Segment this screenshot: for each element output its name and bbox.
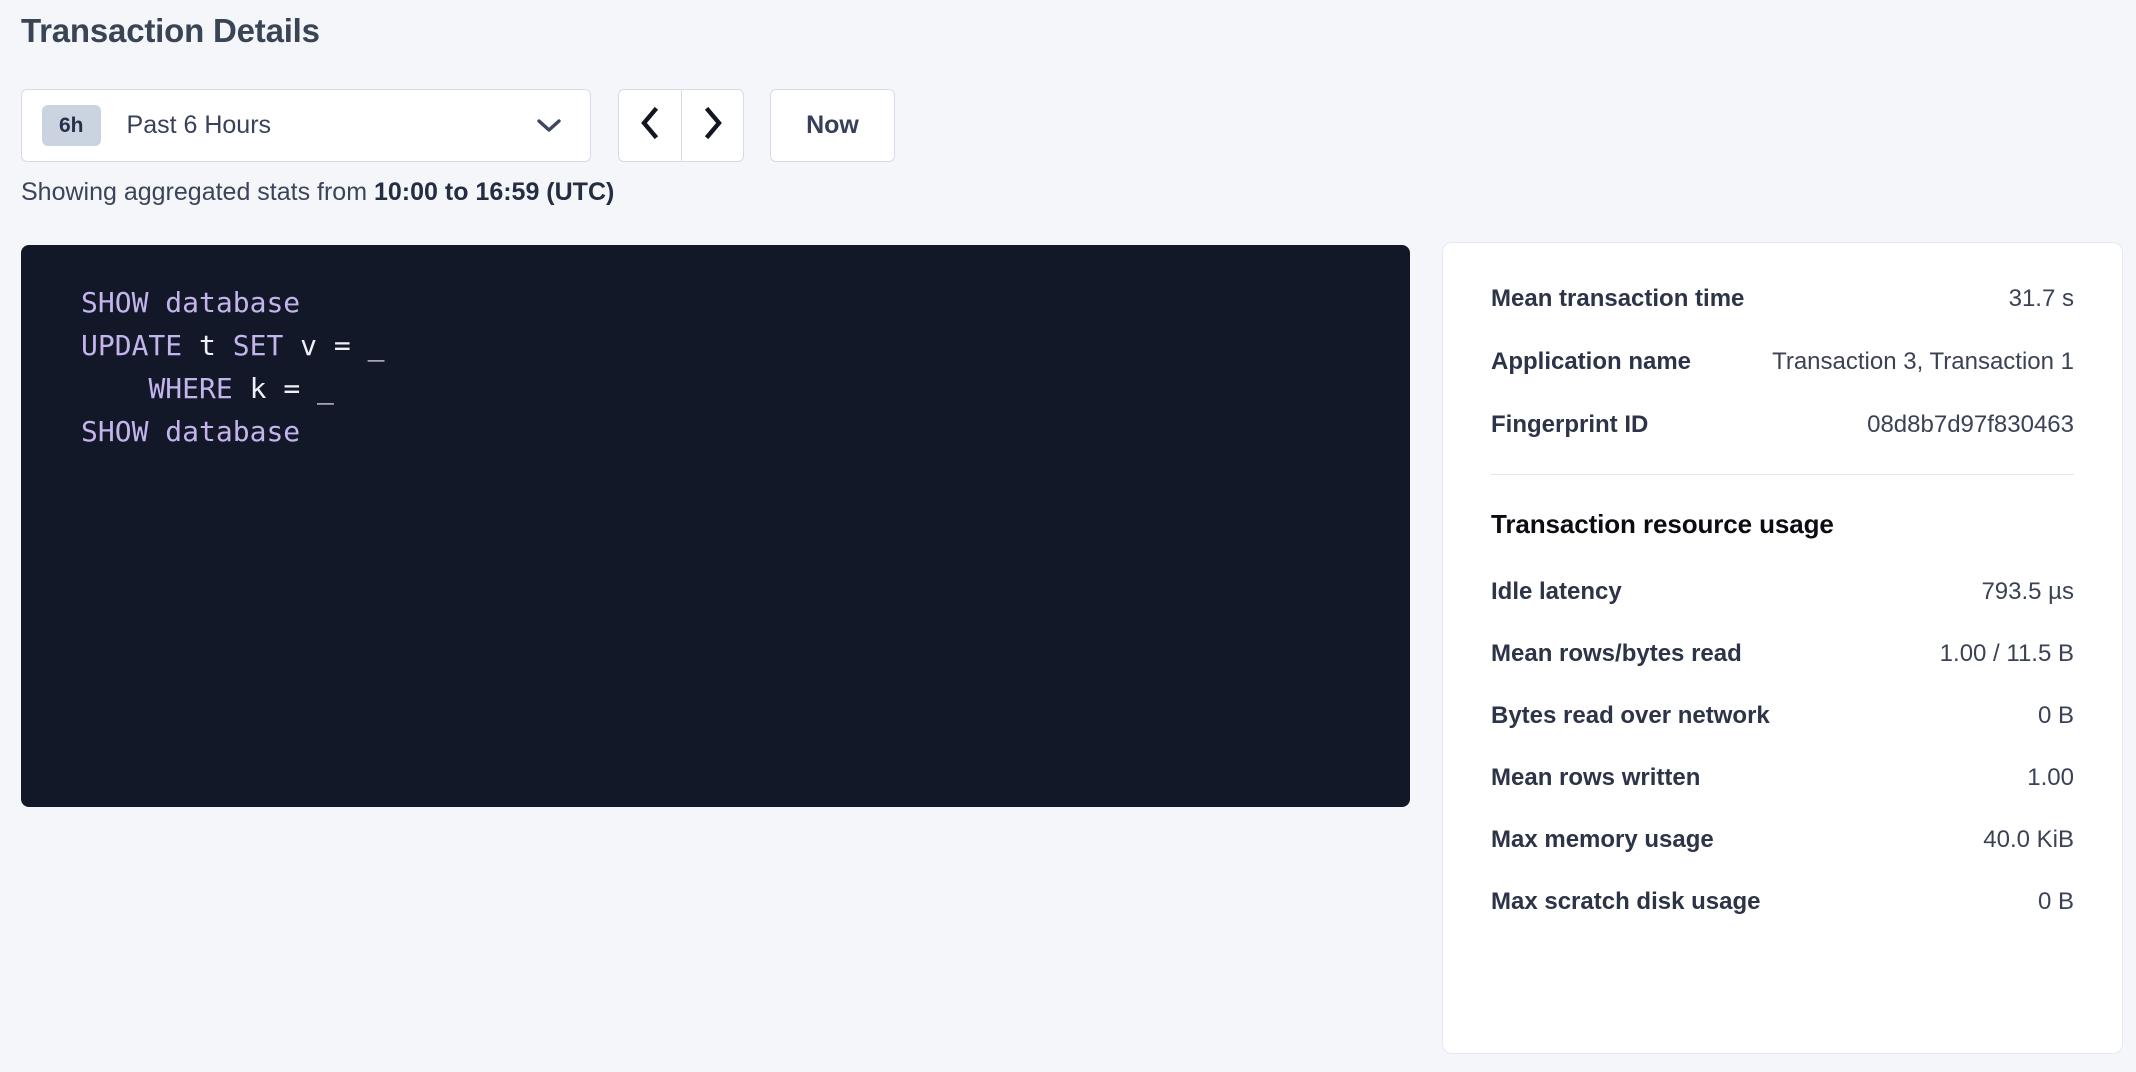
stat-row: Application nameTransaction 3, Transacti… [1491,348,2074,376]
time-controls: 6h Past 6 Hours Now [21,89,895,162]
card-divider [1491,474,2074,475]
stat-row: Max memory usage40.0 KiB [1491,826,2074,854]
showing-range-value: 10:00 to 16:59 (UTC) [374,178,614,206]
stat-value: Transaction 3, Transaction 1 [1756,348,2074,376]
showing-range-prefix: Showing aggregated stats from [21,178,374,206]
chevron-left-icon [637,106,663,145]
sql-token: t [199,329,216,362]
sql-token: k [250,372,267,405]
stat-label: Mean transaction time [1491,285,1744,313]
previous-period-button[interactable] [618,89,681,162]
sql-token [216,329,233,362]
stat-value: 1.00 [2011,764,2074,792]
sql-keyword: SET [233,329,284,362]
sql-token [317,329,334,362]
stat-row: Mean rows written1.00 [1491,764,2074,792]
time-range-badge: 6h [42,105,101,146]
stat-value: 08d8b7d97f830463 [1851,411,2074,439]
sql-token [148,286,165,319]
sql-token [283,329,300,362]
sql-keyword: SHOW [81,286,148,319]
showing-range-text: Showing aggregated stats from 10:00 to 1… [21,178,614,207]
sql-token [148,415,165,448]
stat-label: Mean rows written [1491,764,1700,792]
next-period-button[interactable] [681,89,744,162]
stat-row: Bytes read over network0 B [1491,702,2074,730]
stat-row: Mean transaction time31.7 s [1491,285,2074,313]
time-range-select[interactable]: 6h Past 6 Hours [21,89,591,162]
sql-token: = [283,372,300,405]
stat-value: 40.0 KiB [1967,826,2074,854]
resource-stats-list: Idle latency793.5 µsMean rows/bytes read… [1491,578,2074,916]
stat-row: Max scratch disk usage0 B [1491,888,2074,916]
sql-code-text: SHOW database UPDATE t SET v = _ WHERE k… [81,281,1410,453]
resource-usage-heading: Transaction resource usage [1491,509,2074,540]
sql-token [266,372,283,405]
chevron-right-icon [700,106,726,145]
summary-stats-list: Mean transaction time31.7 sApplication n… [1491,285,2074,439]
sql-keyword: SHOW [81,415,148,448]
time-range-label: Past 6 Hours [127,111,272,140]
sql-token [182,329,199,362]
time-nav-group [618,89,744,162]
sql-token [300,372,317,405]
stat-label: Mean rows/bytes read [1491,640,1742,668]
sql-token [351,329,368,362]
stat-value: 0 B [2022,888,2074,916]
stat-label: Fingerprint ID [1491,411,1648,439]
stat-label: Idle latency [1491,578,1622,606]
stat-label: Application name [1491,348,1691,376]
stat-value: 793.5 µs [1965,578,2074,606]
sql-keyword: database [165,286,300,319]
sql-code-panel[interactable]: SHOW database UPDATE t SET v = _ WHERE k… [21,245,1410,807]
sql-token [233,372,250,405]
sql-keyword: UPDATE [81,329,182,362]
transaction-stats-card: Mean transaction time31.7 sApplication n… [1442,242,2123,1054]
sql-token [81,372,148,405]
stat-row: Mean rows/bytes read1.00 / 11.5 B [1491,640,2074,668]
stat-label: Max memory usage [1491,826,1714,854]
transaction-details-page: Transaction Details 6h Past 6 Hours Now [0,0,2136,1072]
stat-row: Idle latency793.5 µs [1491,578,2074,606]
page-title: Transaction Details [21,12,320,50]
sql-keyword: WHERE [148,372,232,405]
sql-keyword: database [165,415,300,448]
stat-value: 0 B [2022,702,2074,730]
stat-label: Max scratch disk usage [1491,888,1760,916]
stat-label: Bytes read over network [1491,702,1770,730]
now-button[interactable]: Now [770,89,895,162]
sql-token: v [300,329,317,362]
stat-value: 31.7 s [1993,285,2074,313]
sql-token: _ [317,372,334,405]
sql-token: _ [368,329,385,362]
chevron-down-icon [536,118,562,134]
stat-value: 1.00 / 11.5 B [1924,640,2074,668]
stat-row: Fingerprint ID08d8b7d97f830463 [1491,411,2074,439]
sql-token: = [334,329,351,362]
